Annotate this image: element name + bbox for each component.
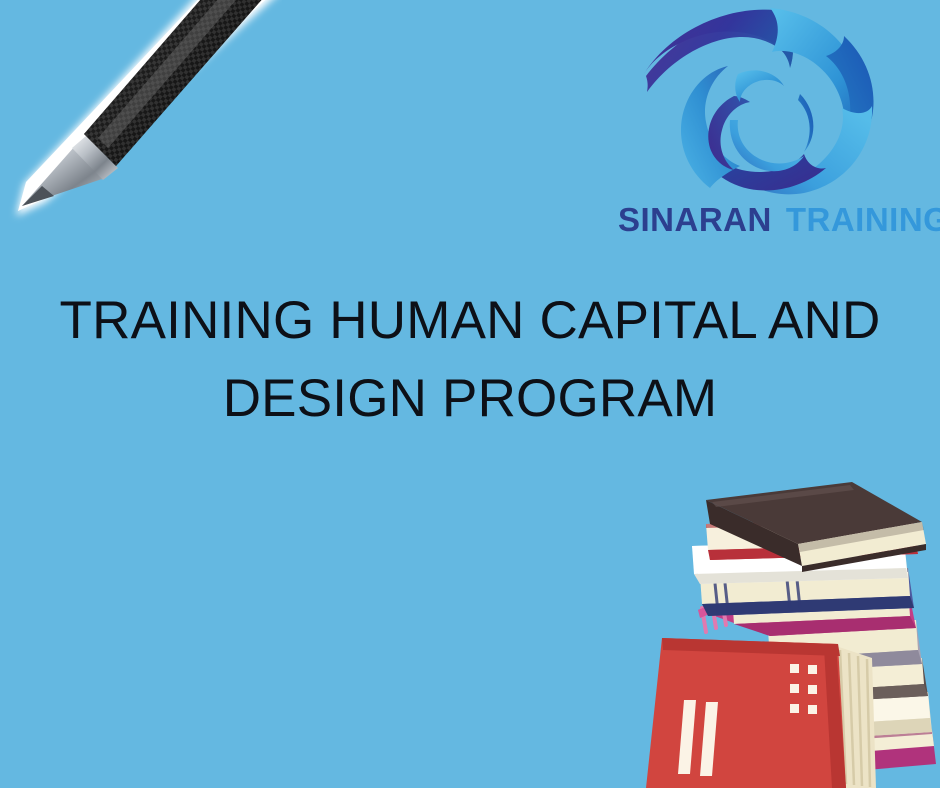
- pen-barrel: [84, 0, 282, 166]
- book-white: [692, 540, 908, 584]
- poster-canvas: SINARANTRAINING TRAINING HUMAN CAPITAL A…: [0, 0, 940, 788]
- book-navy: [700, 568, 914, 616]
- book-cream-dark-edge: [780, 658, 928, 704]
- pen-collar: [72, 136, 118, 180]
- wordmark-training: TRAINING: [786, 201, 940, 238]
- pen-nib: [22, 186, 54, 206]
- brand-wordmark: SINARANTRAINING: [618, 198, 940, 242]
- book-red: [706, 518, 918, 560]
- stack-of-books: [640, 478, 940, 788]
- ballpoint-pen: [0, 0, 282, 250]
- sinaran-swirl-logo-icon: [630, 2, 898, 198]
- book-grey-mauve: [768, 620, 922, 672]
- pen-halo: [16, 0, 282, 216]
- headline-line-1: TRAINING HUMAN CAPITAL AND: [0, 282, 940, 360]
- brand-logo: SINARANTRAINING: [618, 2, 940, 248]
- pen-highlight: [98, 0, 274, 148]
- book-magenta: [698, 588, 916, 636]
- pen-tip: [22, 146, 105, 206]
- logo-blade-9: [730, 120, 804, 171]
- pen-outline: [18, 0, 282, 211]
- headline-line-2: DESIGN PROGRAM: [0, 360, 940, 438]
- book-bottom-plum: [792, 730, 936, 776]
- book-pale-cream: [786, 692, 932, 741]
- logo-blade-8: [735, 70, 784, 102]
- wordmark-sinaran: SINARAN: [618, 201, 772, 238]
- leaning-red-book: [646, 638, 876, 788]
- page-title: TRAINING HUMAN CAPITAL AND DESIGN PROGRA…: [0, 282, 940, 438]
- book-top-dark: [706, 482, 926, 572]
- logo-blade-10: [798, 94, 813, 152]
- pen-barrel-texture: [84, 0, 282, 166]
